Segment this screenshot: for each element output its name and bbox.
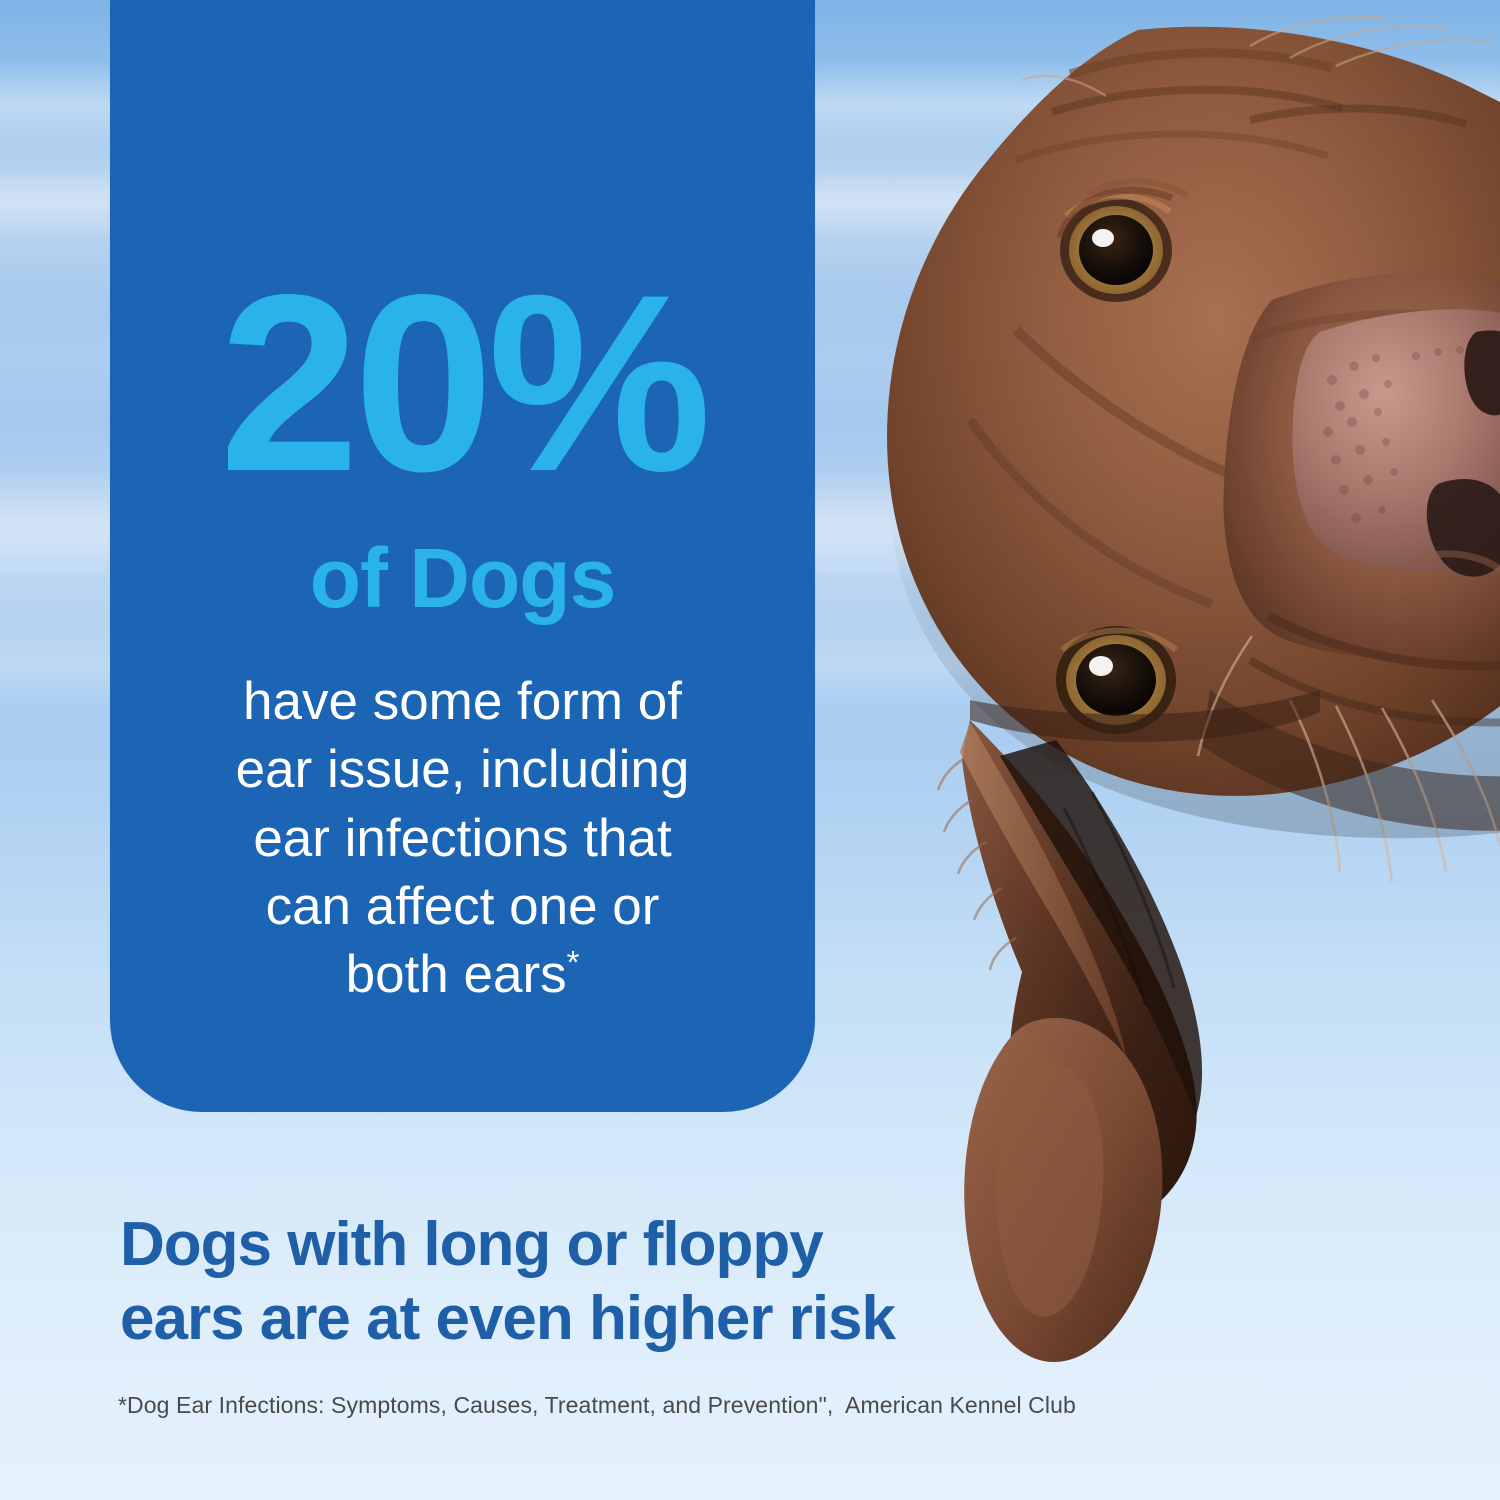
body-line: ear infections that xyxy=(153,805,773,873)
stat-number: 20% xyxy=(219,258,705,510)
body-line: can affect one or xyxy=(153,873,773,941)
dog-photo xyxy=(820,0,1500,1420)
stat-panel: 20% of Dogs have some form of ear issue,… xyxy=(110,0,815,1112)
footnote-marker: * xyxy=(567,944,580,981)
body-line: have some form of xyxy=(153,668,773,736)
stat-subtitle: of Dogs xyxy=(310,536,616,620)
headline-line: Dogs with long or floppy xyxy=(120,1208,1120,1282)
infographic-canvas: 20% of Dogs have some form of ear issue,… xyxy=(0,0,1500,1500)
footnote-citation: *Dog Ear Infections: Symptoms, Causes, T… xyxy=(118,1392,1076,1419)
body-line-text: both ears xyxy=(346,945,567,1004)
body-line: ear issue, including xyxy=(153,736,773,804)
headline-line: ears are at even higher risk xyxy=(120,1282,1120,1356)
headline: Dogs with long or floppy ears are at eve… xyxy=(120,1208,1120,1356)
body-line-last: both ears* xyxy=(153,941,773,1009)
stat-body-text: have some form of ear issue, including e… xyxy=(153,668,773,1010)
